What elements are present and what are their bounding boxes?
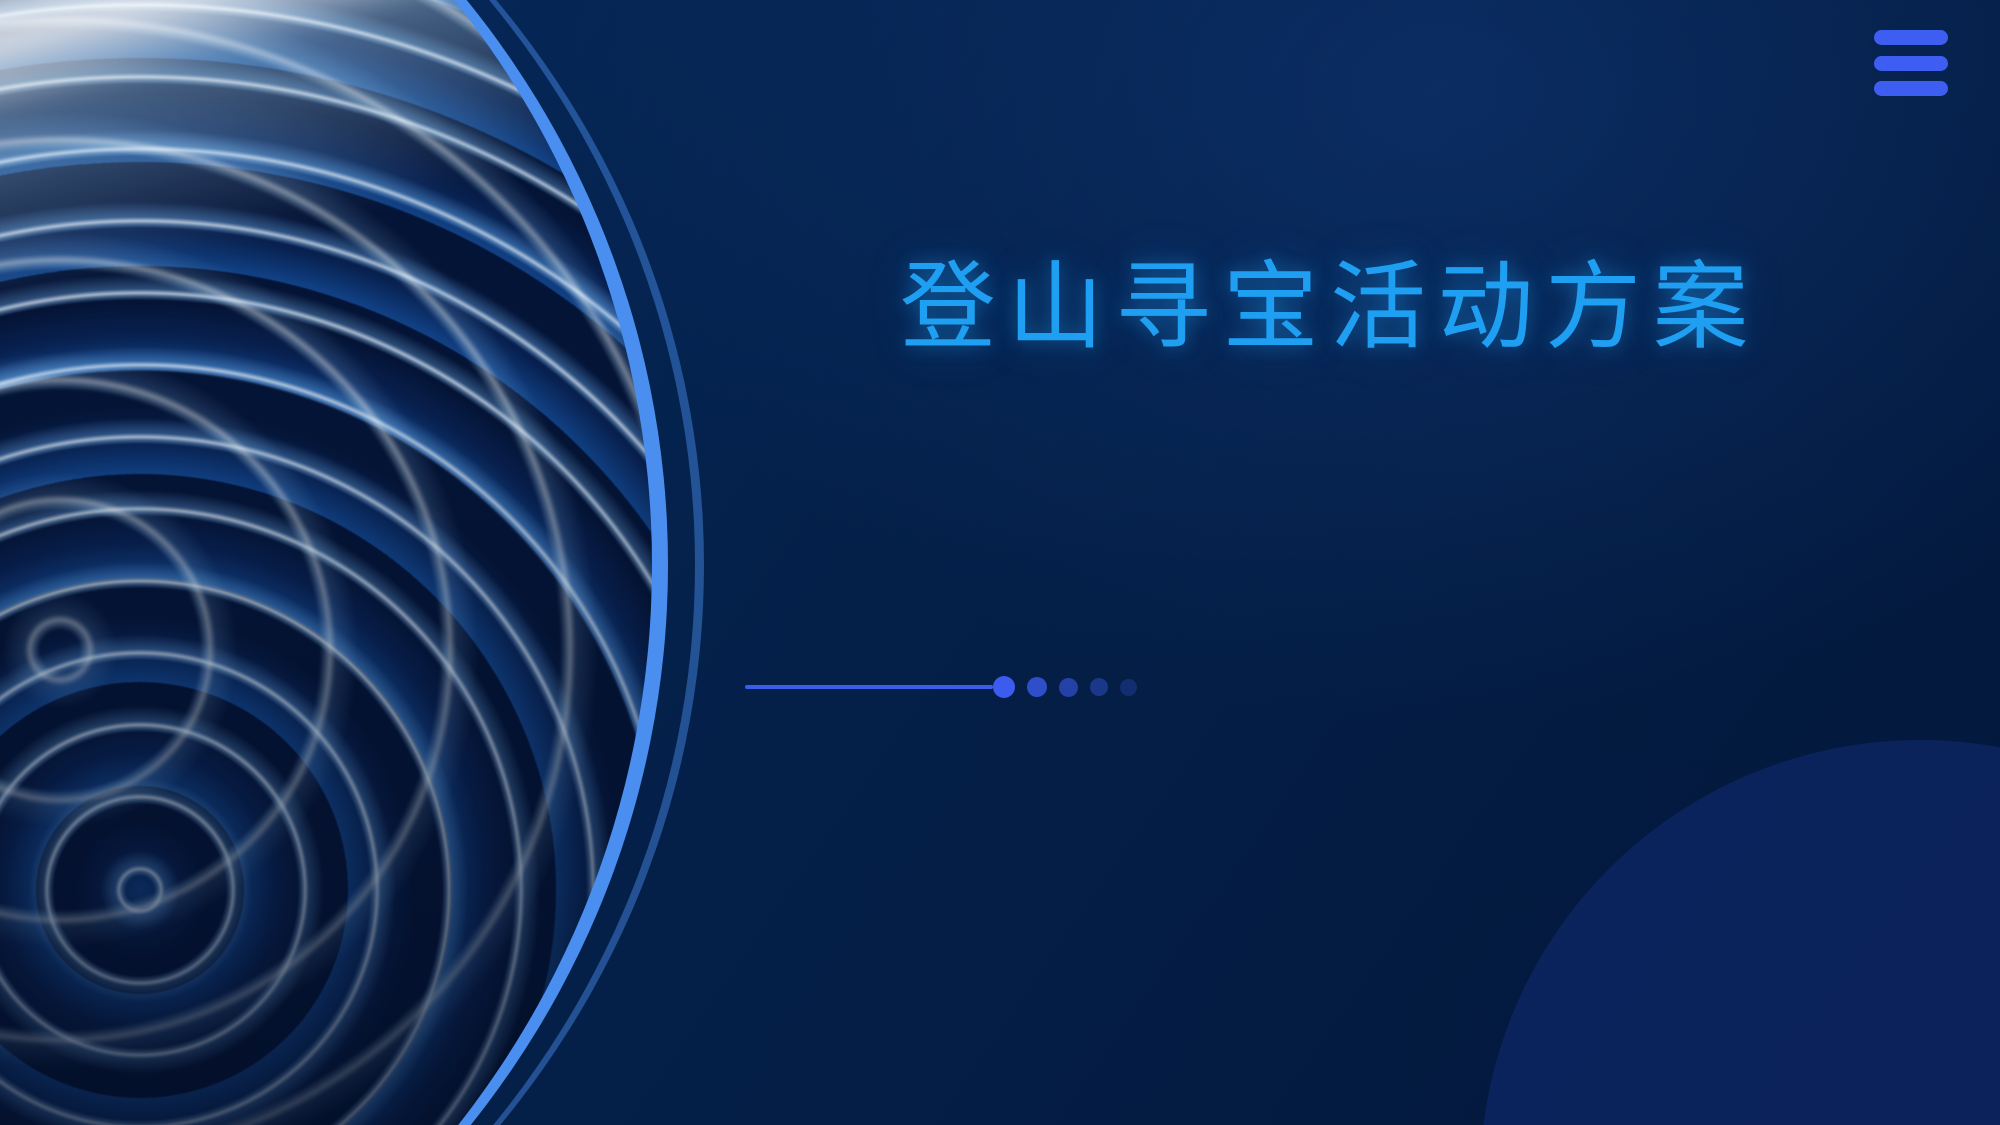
- menu-bar-top: [1874, 30, 1948, 45]
- decor-dot-1: [993, 676, 1015, 698]
- slide-title: 登山寻宝活动方案: [740, 258, 1920, 359]
- hero-image-panel: [0, 0, 660, 1125]
- decor-dot-4: [1090, 678, 1108, 696]
- decor-line: [745, 685, 993, 689]
- menu-bar-bottom: [1874, 81, 1948, 96]
- presentation-slide: 登山寻宝活动方案: [0, 0, 2000, 1125]
- hamburger-menu-icon[interactable]: [1874, 30, 1948, 96]
- decor-dot-3: [1059, 678, 1078, 697]
- menu-bar-middle: [1874, 56, 1948, 71]
- hero-image: [0, 0, 660, 1125]
- decor-dot-5: [1120, 679, 1137, 696]
- decorative-line-dots: [745, 676, 1137, 698]
- image-shadow-overlay: [0, 386, 660, 1125]
- decor-dot-2: [1027, 677, 1047, 697]
- hero-image-clip: [0, 0, 660, 1125]
